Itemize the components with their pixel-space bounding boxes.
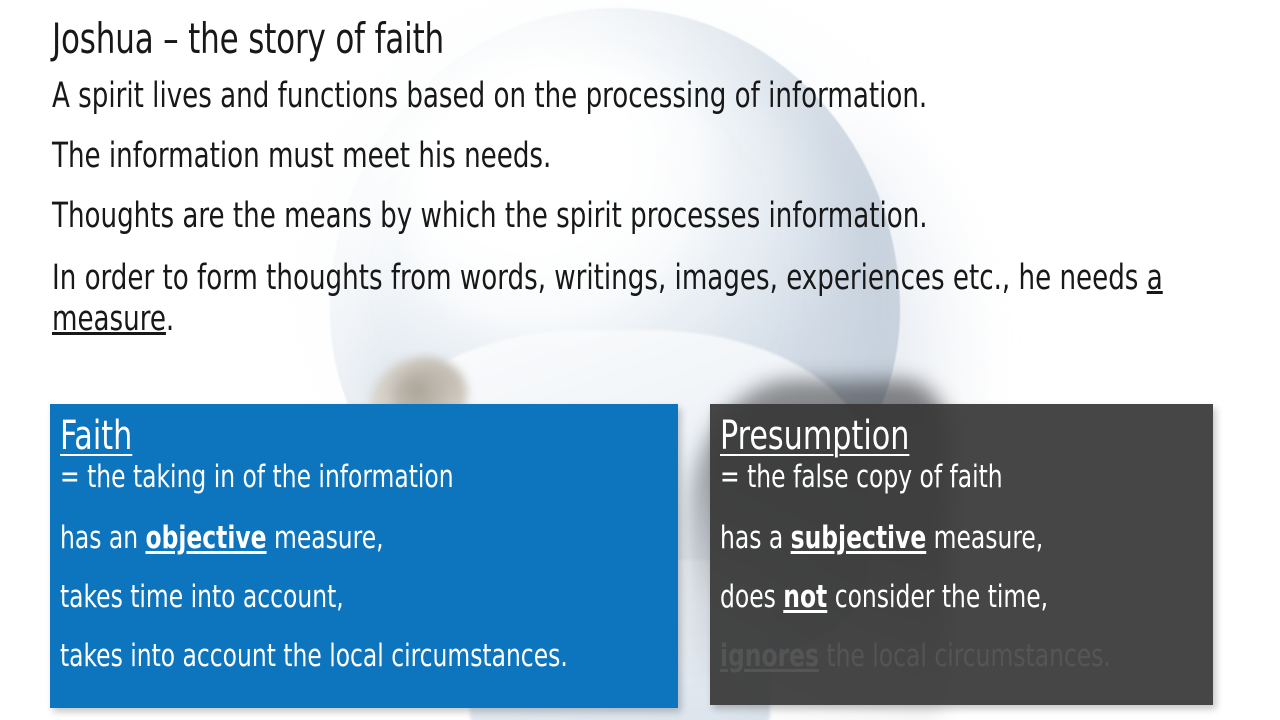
panel-presumption-line-4-emphasis: ignores — [720, 638, 819, 674]
panel-presumption-line-2: has a subjective measure, — [720, 523, 1134, 554]
body-line-1: A spirit lives and functions based on th… — [52, 78, 1031, 114]
body-line-2: The information must meet his needs. — [52, 138, 1031, 174]
panel-presumption-line-3-emphasis: not — [783, 579, 827, 615]
page-title: Joshua – the story of faith — [52, 14, 1020, 64]
body-line-4: In order to form thoughts from words, wr… — [52, 258, 1231, 341]
body-line-3: Thoughts are the means by which the spir… — [52, 198, 1031, 234]
panel-presumption-line-1: = the false copy of faith — [720, 462, 1134, 493]
panel-presumption-title-text: Presumption — [720, 413, 909, 459]
panel-faith-title-text: Faith — [60, 413, 132, 459]
panel-presumption-line-4-tail: the local circumstances. — [819, 638, 1111, 674]
body-line-4-tail: . — [166, 299, 174, 339]
panel-faith-line-3-lead: takes time into account, — [60, 579, 344, 615]
panel-faith-line-4-lead: takes into account the local circumstanc… — [60, 638, 568, 674]
body-line-4-lead: In order to form thoughts from words, wr… — [52, 258, 1147, 298]
panel-presumption-line-2-emphasis: subjective — [791, 520, 927, 556]
panel-presumption-line-2-tail: measure, — [926, 520, 1043, 556]
panel-faith-line-2-lead: has an — [60, 520, 145, 556]
panel-faith-line-2-emphasis: objective — [145, 520, 266, 556]
panel-faith-line-1-lead: = the taking in of the information — [60, 459, 454, 495]
panel-faith[interactable]: Faith = the taking in of the information… — [50, 404, 678, 708]
slide-canvas: Joshua – the story of faith A spirit liv… — [0, 0, 1280, 720]
panel-presumption-line-1-lead: = the false copy of faith — [720, 459, 1003, 495]
panel-presumption-title: Presumption — [720, 416, 1134, 456]
panel-presumption-line-3-tail: consider the time, — [827, 579, 1048, 615]
panel-faith-line-2-tail: measure, — [267, 520, 384, 556]
panel-faith-line-4: takes into account the local circumstanc… — [60, 641, 579, 672]
text-content-block: Joshua – the story of faith A spirit liv… — [52, 14, 1232, 340]
panel-presumption[interactable]: Presumption = the false copy of faith ha… — [710, 404, 1213, 705]
panel-faith-title: Faith — [60, 416, 579, 456]
panel-faith-line-1: = the taking in of the information — [60, 462, 579, 493]
panel-faith-line-3: takes time into account, — [60, 582, 579, 613]
panel-presumption-line-3: does not consider the time, — [720, 582, 1134, 613]
panel-presumption-line-3-lead: does — [720, 579, 783, 615]
panel-presumption-line-4: ignores the local circumstances. — [720, 641, 1134, 672]
panel-presumption-line-2-lead: has a — [720, 520, 791, 556]
panel-faith-line-2: has an objective measure, — [60, 523, 579, 554]
